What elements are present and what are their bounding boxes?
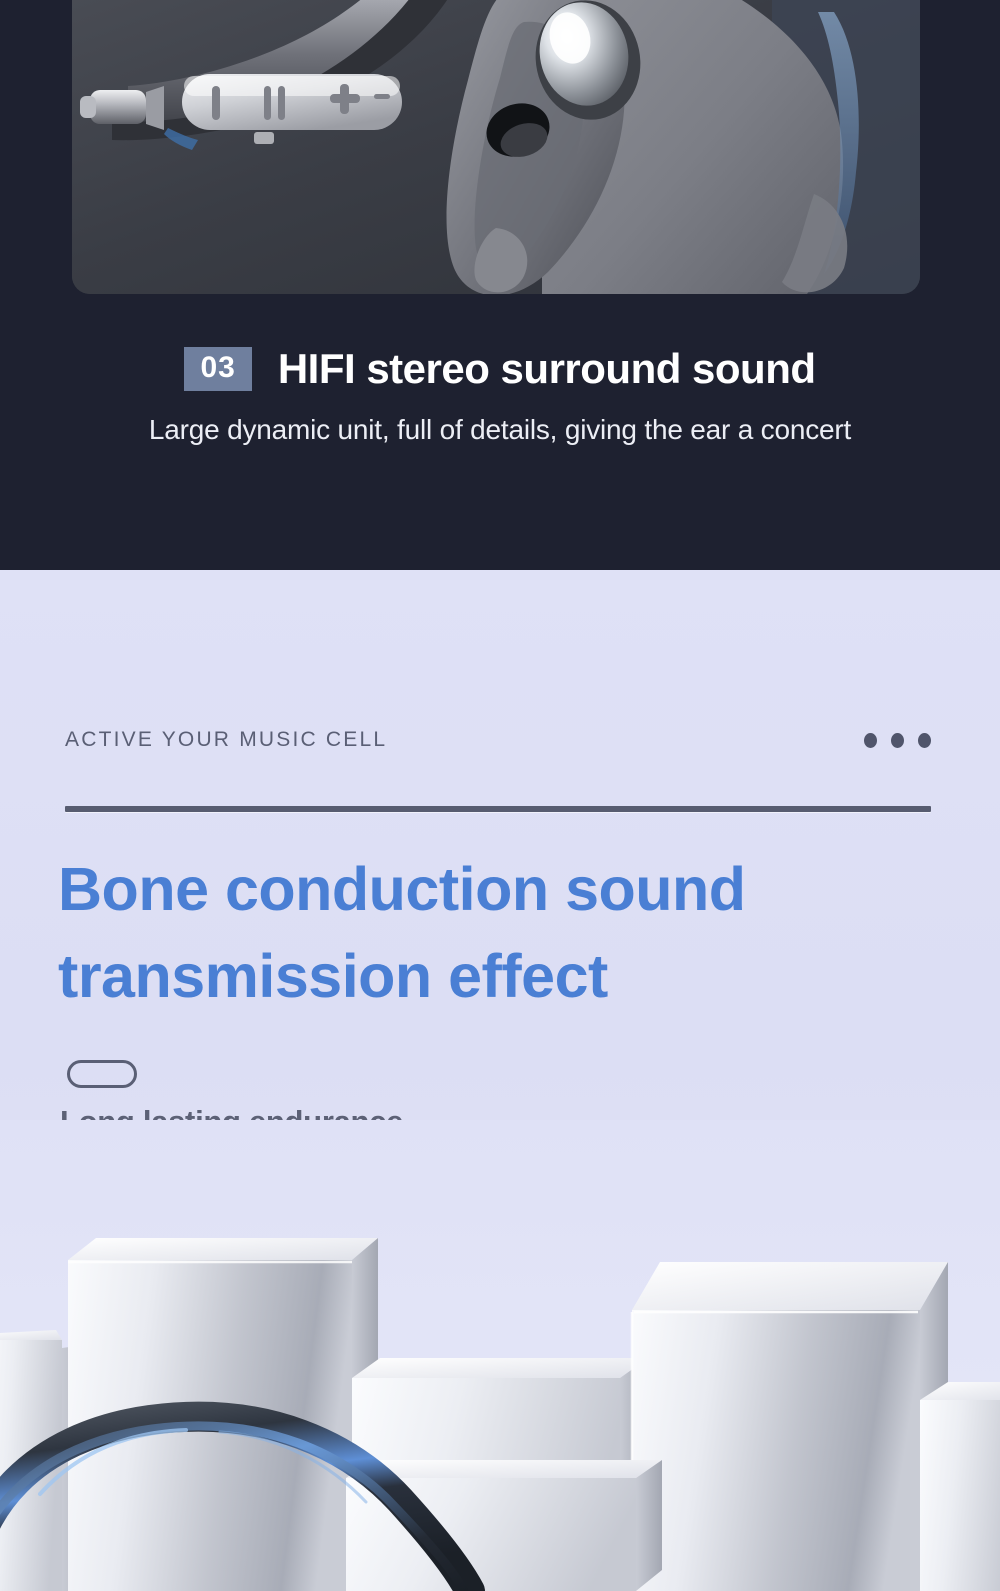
product-scene-illustration (0, 1120, 1000, 1591)
feature-title: HIFI stereo surround sound (278, 345, 816, 393)
pause-button-glyph-left (264, 86, 271, 120)
volume-down-button-glyph (374, 94, 390, 99)
eyebrow-row: ACTIVE YOUR MUSIC CELL (65, 728, 931, 752)
feature-heading-row: 03 HIFI stereo surround sound (0, 345, 1000, 393)
promo-headline: Bone conduction sound transmission effec… (58, 846, 878, 1019)
dot-icon-2 (891, 733, 904, 748)
feature-subtitle: Large dynamic unit, full of details, giv… (0, 414, 1000, 446)
hero-product-image (72, 0, 920, 294)
eyebrow-label: ACTIVE YOUR MUSIC CELL (65, 728, 387, 752)
pause-button-glyph-right (278, 86, 285, 120)
more-options-dots[interactable] (864, 733, 931, 748)
hero-illustration (72, 0, 920, 294)
section-divider (65, 806, 931, 812)
promo-headline-line-1: Bone conduction sound (58, 855, 746, 923)
dot-icon-1 (864, 733, 877, 748)
dot-icon-3 (918, 733, 931, 748)
block-right (920, 1382, 1000, 1591)
capsule-icon (67, 1060, 137, 1088)
feature-section: 03 HIFI stereo surround sound Large dyna… (0, 0, 1000, 570)
promo-headline-line-2: transmission effect (58, 942, 608, 1010)
feature-number-badge: 03 (184, 347, 251, 391)
power-button-glyph (212, 86, 220, 120)
product-scene-image (0, 1120, 1000, 1591)
block-center-tall (632, 1262, 948, 1591)
